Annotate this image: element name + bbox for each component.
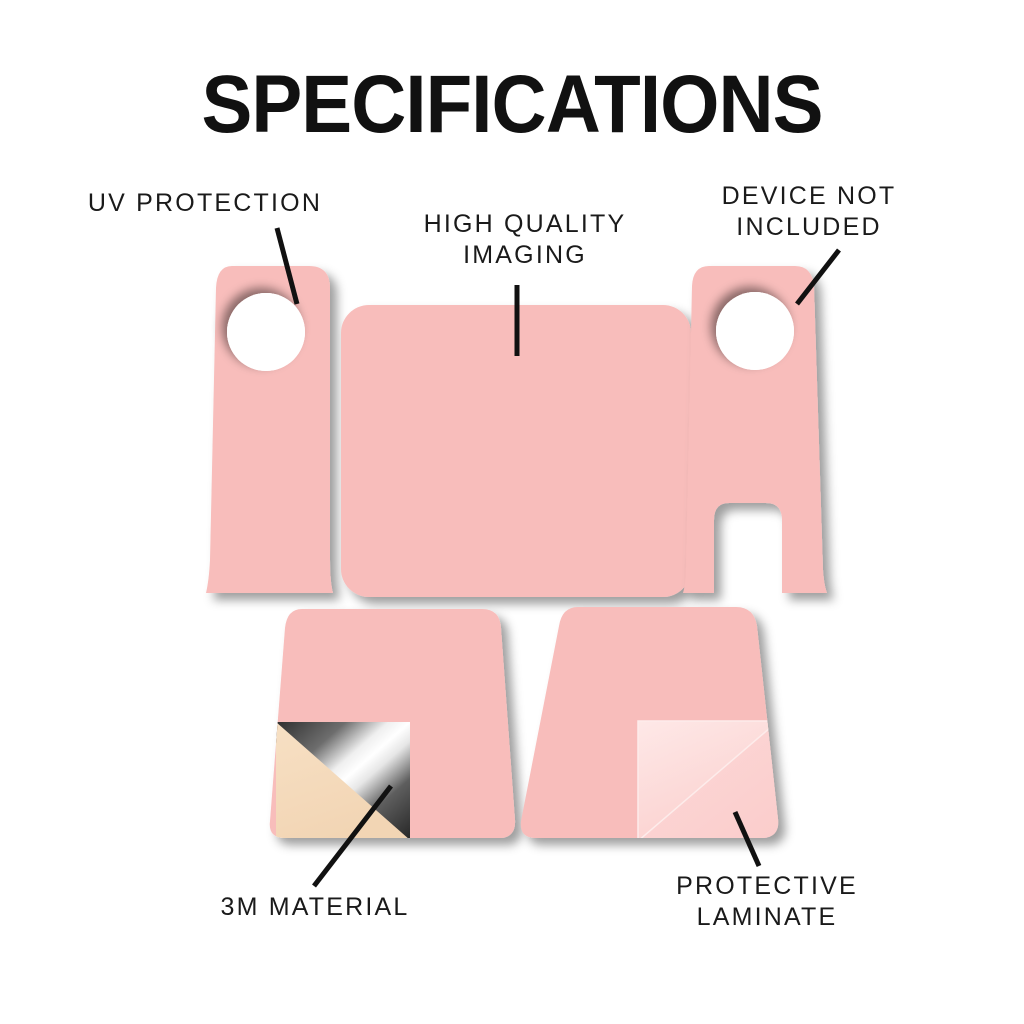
label-3m-material: 3M MATERIAL <box>90 892 540 923</box>
label-uv-protection: UV PROTECTION <box>40 188 370 219</box>
label-high-quality-imaging: HIGH QUALITY IMAGING <box>370 209 680 272</box>
peeled-protective-laminate <box>638 721 778 841</box>
left-panel-camera-hole <box>227 293 305 371</box>
peeled-3m-backing <box>276 722 410 840</box>
label-device-not-included: DEVICE NOT INCLUDED <box>664 181 954 244</box>
label-protective-laminate: PROTECTIVE LAMINATE <box>602 871 932 934</box>
right-panel-camera-hole <box>716 292 794 370</box>
specifications-graphic: SPECIFICATIONS <box>0 0 1024 1024</box>
